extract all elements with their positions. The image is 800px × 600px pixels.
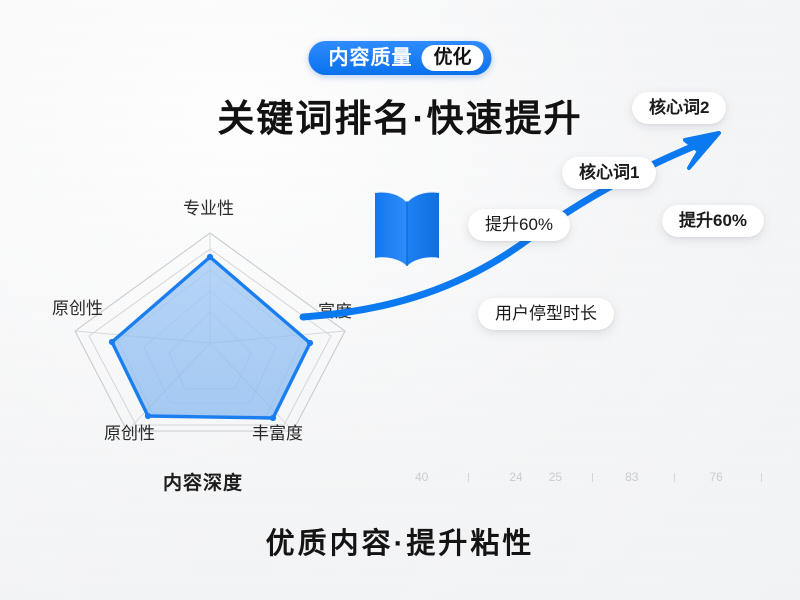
axis-num-2: 25 xyxy=(549,471,562,483)
callout-keyword-2[interactable]: 核心词2 xyxy=(632,92,726,124)
axis-tick-3 xyxy=(761,473,762,482)
axis-num-4: 76 xyxy=(709,471,722,483)
axis-scale: 40 24 25 83 76 xyxy=(415,466,775,488)
footer-headline: 优质内容·提升粘性 xyxy=(0,520,800,562)
axis-tick-2 xyxy=(674,473,675,482)
book-icon xyxy=(372,188,442,272)
quality-badge[interactable]: 内容质量 优化 xyxy=(308,41,491,75)
axis-num-3: 83 xyxy=(625,471,638,483)
radar-data-area xyxy=(112,257,310,418)
badge-pill-label: 优化 xyxy=(421,45,483,71)
axis-tick-0 xyxy=(468,473,469,482)
radar-label-bottom-left: 原创性 xyxy=(104,425,155,442)
axis-num-1: 24 xyxy=(509,471,522,483)
radar-label-left: 原创性 xyxy=(52,300,103,317)
callout-lift-right[interactable]: 提升60% xyxy=(662,205,764,237)
axis-tick-1 xyxy=(592,473,593,482)
axis-num-0: 40 xyxy=(415,471,428,483)
callout-lift-left[interactable]: 提升60% xyxy=(468,209,570,241)
radar-label-bottom-right: 丰富度 xyxy=(252,425,303,442)
badge-main-label: 内容质量 xyxy=(328,48,412,68)
poster-canvas: 专业性 富度 丰富度 原创性 原创性 内容质量 优化 关键词排名·快速提升 xyxy=(0,0,800,600)
radar-label-top: 专业性 xyxy=(183,200,234,217)
callout-dwell-time[interactable]: 用户停型时长 xyxy=(478,298,614,330)
callout-keyword-1[interactable]: 核心词1 xyxy=(562,157,656,189)
content-depth-label: 内容深度 xyxy=(163,468,243,495)
